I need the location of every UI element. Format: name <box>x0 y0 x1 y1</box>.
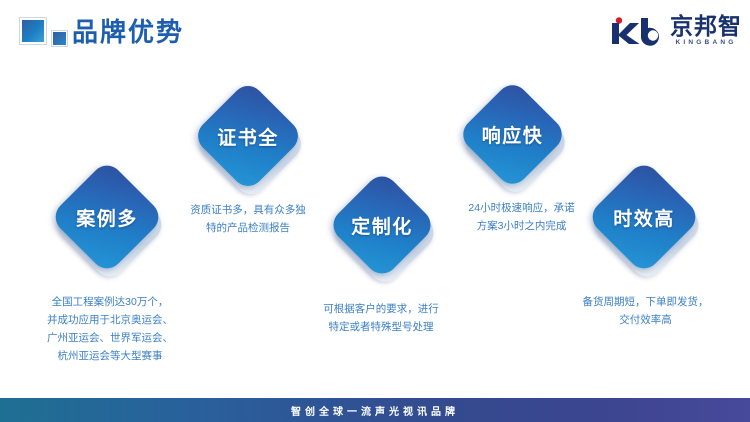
diamond-shape <box>457 79 569 191</box>
advantage-diamond-response[interactable]: 响应快 <box>473 95 552 174</box>
logo-english-text: KINGBANG <box>670 39 742 46</box>
advantage-caption-efficiency: 备货周期短，下单即发货， 交付效率高 <box>558 293 733 329</box>
advantage-caption-response: 24小时极速响应，承诺 方案3小时之内完成 <box>440 199 603 235</box>
advantage-caption-certificates: 资质证书多，具有众多独 特的产品检测报告 <box>168 201 328 237</box>
square-small-icon <box>52 31 67 46</box>
brand-logo: 京邦智 KINGBANG <box>608 14 742 46</box>
logo-chinese-text: 京邦智 <box>670 14 742 38</box>
diamond-shape <box>49 159 165 275</box>
slide-footer: 智创全球一流声光视讯品牌 <box>0 398 750 422</box>
diamond-shape <box>586 159 702 275</box>
advantage-caption-customization: 可根据客户的要求，进行 特定或者特殊型号处理 <box>296 300 466 336</box>
advantage-caption-cases: 全国工程案例达30万个， 并成功应用于北京奥运会、 广州亚运会、世界军运会、 杭… <box>10 293 210 365</box>
slide-canvas: 品牌优势 京邦智 KINGBANG 案例多 全国工程案例达30万个， 并成功应用… <box>0 0 750 422</box>
advantage-diamond-certificates[interactable]: 证书全 <box>208 96 288 176</box>
logo-kb-icon <box>608 16 670 46</box>
page-title: 品牌优势 <box>72 12 184 49</box>
square-large-icon <box>20 18 46 44</box>
slide-header: 品牌优势 京邦智 KINGBANG <box>0 0 750 62</box>
diamond-shape <box>327 170 437 280</box>
footer-slogan: 智创全球一流声光视讯品牌 <box>291 403 459 418</box>
diamond-shape <box>191 79 304 192</box>
advantage-diamond-customization[interactable]: 定制化 <box>343 186 421 264</box>
advantage-diamond-efficiency[interactable]: 时效高 <box>603 176 685 258</box>
advantage-diamond-cases[interactable]: 案例多 <box>66 176 148 258</box>
